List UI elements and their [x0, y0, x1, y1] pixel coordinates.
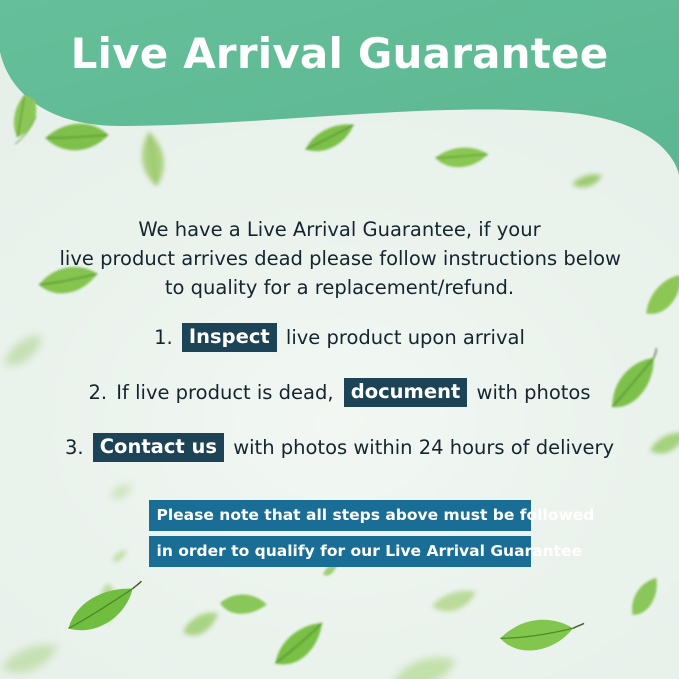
- leaf-icon: [0, 640, 60, 679]
- step-tail-text: live product upon arrival: [286, 326, 525, 349]
- leaf-icon: [430, 588, 478, 618]
- note-bar-line-1: Please note that all steps above must be…: [149, 500, 531, 531]
- note-bars: Please note that all steps above must be…: [149, 500, 531, 567]
- leaf-icon: [624, 580, 668, 620]
- step-tail-text: with photos within 24 hours of delivery: [233, 436, 614, 459]
- leaf-icon: [268, 624, 332, 672]
- step-number: 2.: [88, 381, 107, 404]
- step-lead-text: If live product is dead,: [116, 381, 333, 404]
- leaf-icon: [390, 652, 460, 679]
- list-item: 3. Contact us with photos within 24 hour…: [0, 428, 679, 468]
- page-title: Live Arrival Guarantee: [0, 28, 679, 80]
- step-highlight-inspect: Inspect: [182, 323, 277, 352]
- intro-paragraph: We have a Live Arrival Guarantee, if you…: [60, 215, 620, 302]
- live-arrival-guarantee-poster: Live Arrival Guarantee: [0, 0, 679, 679]
- note-bar-line-2: in order to qualify for our Live Arrival…: [149, 536, 531, 567]
- intro-line-3: to quality for a replacement/refund.: [60, 273, 620, 302]
- step-number: 1.: [154, 326, 173, 349]
- leaf-icon: [432, 140, 490, 178]
- steps-list: 1. Inspect live product upon arrival 2. …: [0, 318, 679, 483]
- intro-line-1: We have a Live Arrival Guarantee, if you…: [60, 215, 620, 244]
- leaf-icon: [135, 128, 171, 192]
- step-highlight-contact-us: Contact us: [93, 433, 224, 462]
- leaf-icon: [40, 110, 110, 170]
- step-tail-text: with photos: [477, 381, 591, 404]
- step-highlight-document: document: [344, 378, 468, 407]
- step-number: 3.: [65, 436, 84, 459]
- leaf-icon: [498, 610, 578, 668]
- leaf-icon: [108, 482, 134, 504]
- leaf-icon: [110, 548, 128, 566]
- leaf-icon: [2, 88, 60, 148]
- leaf-icon: [180, 608, 220, 644]
- leaf-icon: [570, 170, 604, 194]
- leaf-icon: [640, 276, 679, 320]
- leaf-icon: [218, 586, 264, 628]
- intro-line-2: live product arrives dead please follow …: [60, 244, 620, 273]
- leaf-icon: [300, 122, 360, 156]
- list-item: 1. Inspect live product upon arrival: [0, 318, 679, 358]
- leaf-icon: [95, 580, 121, 626]
- list-item: 2. If live product is dead, document wit…: [0, 373, 679, 413]
- leaf-icon: [62, 588, 146, 634]
